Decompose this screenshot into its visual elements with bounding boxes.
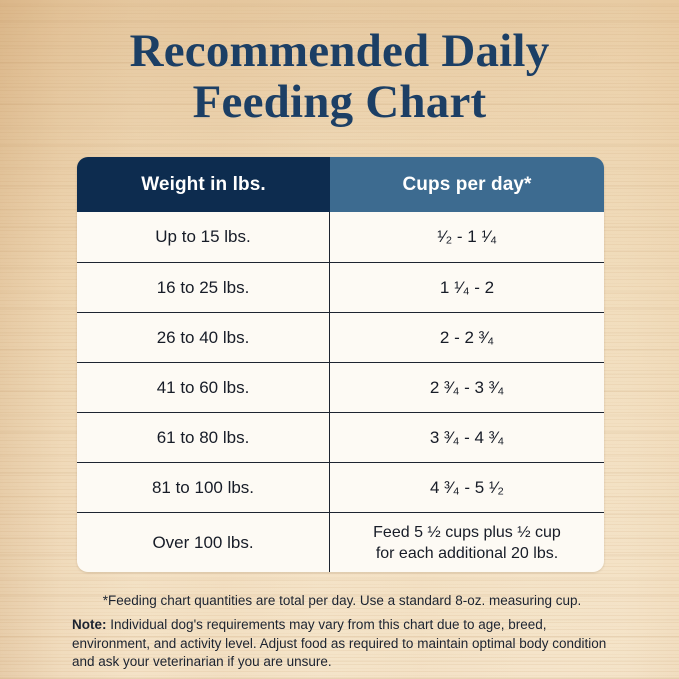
- footnote-note: Note: Individual dog's requirements may …: [72, 616, 612, 672]
- weight-range-value: Up to 15 lbs.: [155, 227, 250, 247]
- table-cell-weight: 26 to 40 lbs.: [77, 313, 330, 362]
- cups-per-day-value: Feed 5 ½ cups plus ½ cup for each additi…: [373, 522, 561, 564]
- table-header-label-weight: Weight in lbs.: [141, 174, 266, 196]
- table-cell-cups: 1 ¹⁄₄ - 2: [330, 263, 604, 312]
- cups-per-day-line-2: for each additional 20 lbs.: [373, 543, 561, 564]
- table-cell-cups: 3 ³⁄₄ - 4 ³⁄₄: [330, 413, 604, 462]
- footnote-note-label: Note:: [72, 617, 107, 632]
- table-row: 16 to 25 lbs. 1 ¹⁄₄ - 2: [77, 262, 604, 312]
- table-cell-weight: 81 to 100 lbs.: [77, 463, 330, 512]
- page-title: Recommended Daily Feeding Chart: [0, 26, 679, 128]
- table-header-row: Weight in lbs. Cups per day*: [77, 157, 604, 212]
- table-header-cell-cups: Cups per day*: [330, 157, 604, 212]
- cups-per-day-line-1: Feed 5 ½ cups plus ½ cup: [373, 522, 561, 543]
- table-cell-weight: 41 to 60 lbs.: [77, 363, 330, 412]
- table-header-label-cups: Cups per day*: [402, 174, 531, 196]
- feeding-chart-page: Recommended Daily Feeding Chart Weight i…: [0, 0, 679, 679]
- weight-range-value: 41 to 60 lbs.: [157, 378, 250, 398]
- cups-per-day-value: 2 ³⁄₄ - 3 ³⁄₄: [430, 378, 504, 398]
- table-cell-cups: 2 ³⁄₄ - 3 ³⁄₄: [330, 363, 604, 412]
- cups-per-day-value: 1 ¹⁄₄ - 2: [440, 278, 494, 298]
- table-row: 81 to 100 lbs. 4 ³⁄₄ - 5 ¹⁄₂: [77, 462, 604, 512]
- weight-range-value: 26 to 40 lbs.: [157, 328, 250, 348]
- table-header-cell-weight: Weight in lbs.: [77, 157, 330, 212]
- table-row: Over 100 lbs. Feed 5 ½ cups plus ½ cup f…: [77, 512, 604, 572]
- weight-range-value: 61 to 80 lbs.: [157, 428, 250, 448]
- page-title-line-1: Recommended Daily: [0, 26, 679, 77]
- weight-range-value: 81 to 100 lbs.: [152, 478, 254, 498]
- weight-range-value: Over 100 lbs.: [152, 533, 253, 553]
- table-header: Weight in lbs. Cups per day*: [77, 157, 604, 212]
- weight-range-value: 16 to 25 lbs.: [157, 278, 250, 298]
- feeding-chart-table: Weight in lbs. Cups per day* Up to 15 lb…: [77, 157, 604, 572]
- table-cell-weight: 16 to 25 lbs.: [77, 263, 330, 312]
- cups-per-day-value: 3 ³⁄₄ - 4 ³⁄₄: [430, 428, 504, 448]
- cups-per-day-value: 2 - 2 ³⁄₄: [440, 328, 494, 348]
- table-cell-cups: Feed 5 ½ cups plus ½ cup for each additi…: [330, 513, 604, 572]
- table-row: Up to 15 lbs. ¹⁄₂ - 1 ¹⁄₄: [77, 212, 604, 262]
- table-cell-cups: 2 - 2 ³⁄₄: [330, 313, 604, 362]
- table-cell-cups: ¹⁄₂ - 1 ¹⁄₄: [330, 212, 604, 262]
- footnotes: *Feeding chart quantities are total per …: [72, 591, 612, 672]
- table-row: 61 to 80 lbs. 3 ³⁄₄ - 4 ³⁄₄: [77, 412, 604, 462]
- cups-per-day-value: ¹⁄₂ - 1 ¹⁄₄: [437, 227, 497, 247]
- footnote-asterisk: *Feeding chart quantities are total per …: [72, 591, 612, 610]
- cups-per-day-value: 4 ³⁄₄ - 5 ¹⁄₂: [430, 478, 504, 498]
- table-row: 41 to 60 lbs. 2 ³⁄₄ - 3 ³⁄₄: [77, 362, 604, 412]
- table-cell-weight: Up to 15 lbs.: [77, 212, 330, 262]
- table-cell-cups: 4 ³⁄₄ - 5 ¹⁄₂: [330, 463, 604, 512]
- footnote-note-text: Individual dog's requirements may vary f…: [72, 617, 606, 669]
- table-body: Up to 15 lbs. ¹⁄₂ - 1 ¹⁄₄ 16 to 25 lbs. …: [77, 212, 604, 572]
- table-row: 26 to 40 lbs. 2 - 2 ³⁄₄: [77, 312, 604, 362]
- table-cell-weight: 61 to 80 lbs.: [77, 413, 330, 462]
- page-title-line-2: Feeding Chart: [0, 77, 679, 128]
- table-cell-weight: Over 100 lbs.: [77, 513, 330, 572]
